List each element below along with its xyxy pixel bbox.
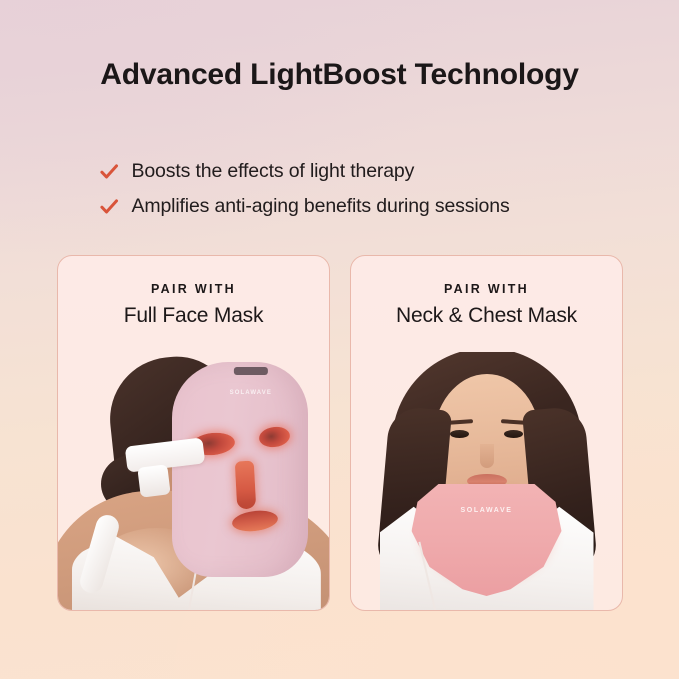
model-eye-right: [504, 430, 523, 438]
list-item: Amplifies anti-aging benefits during ses…: [99, 195, 581, 218]
card-title: Neck & Chest Mask: [351, 304, 622, 328]
mask-top-vent: [234, 367, 268, 375]
model-nose: [480, 444, 494, 468]
card-eyebrow: PAIR WITH: [351, 282, 622, 296]
card-title: Full Face Mask: [58, 304, 329, 328]
card-header: PAIR WITH Full Face Mask: [58, 282, 329, 328]
product-brand-label: SOLAWAVE: [230, 390, 272, 396]
product-photo-neck-chest-mask: SOLAWAVE: [351, 352, 622, 610]
mask-nose-opening: [234, 461, 255, 510]
product-brand-label: SOLAWAVE: [461, 507, 513, 514]
product-card-neck-chest-mask[interactable]: PAIR WITH Neck & Chest Mask: [350, 255, 623, 611]
card-header: PAIR WITH Neck & Chest Mask: [351, 282, 622, 328]
check-icon: [99, 197, 119, 217]
mask-eye-opening-right: [258, 425, 291, 449]
led-face-mask: SOLAWAVE: [172, 362, 308, 577]
promo-graphic: Advanced LightBoost Technology Boosts th…: [0, 0, 679, 679]
benefit-text: Amplifies anti-aging benefits during ses…: [132, 195, 510, 218]
model-eye-left: [450, 430, 469, 438]
mask-mouth-opening: [231, 508, 279, 533]
page-title: Advanced LightBoost Technology: [0, 55, 679, 95]
mask-strap-buckle: [138, 464, 171, 497]
list-item: Boosts the effects of light therapy: [99, 160, 581, 183]
benefit-text: Boosts the effects of light therapy: [132, 160, 415, 183]
product-photo-full-face-mask: SOLAWAVE: [58, 352, 329, 610]
check-icon: [99, 162, 119, 182]
product-card-full-face-mask[interactable]: PAIR WITH Full Face Mask SOLAWAVE: [57, 255, 330, 611]
card-eyebrow: PAIR WITH: [58, 282, 329, 296]
product-card-group: PAIR WITH Full Face Mask SOLAWAVE: [57, 255, 623, 611]
benefits-list: Boosts the effects of light therapy Ampl…: [0, 160, 679, 218]
